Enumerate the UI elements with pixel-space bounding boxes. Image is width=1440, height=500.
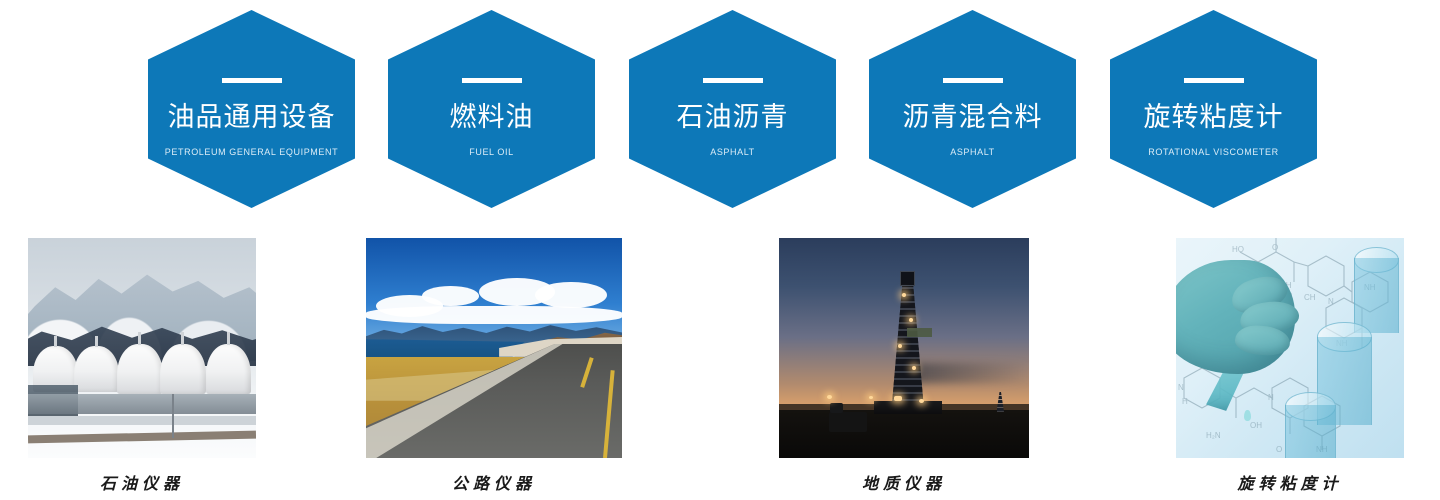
svg-text:CH: CH xyxy=(1304,293,1316,302)
showcase-photo-row: 石油仪器 公路仪器 xyxy=(0,0,1440,500)
showcase-photo-drilling-rig-dusk xyxy=(779,238,1029,458)
showcase-caption: 公路仪器 xyxy=(366,470,622,494)
svg-text:N: N xyxy=(1328,297,1334,306)
svg-text:H₂N: H₂N xyxy=(1206,431,1221,440)
showcase-photo-refinery-mountains xyxy=(28,238,256,458)
showcase-photo-lab-glove-flask: HO O NH HO O NH CH N NH N H H₂N OH O xyxy=(1176,238,1404,458)
svg-text:OH: OH xyxy=(1250,421,1262,430)
showcase-item-rotational-viscometer[interactable]: HO O NH HO O NH CH N NH N H H₂N OH O xyxy=(1176,238,1404,494)
product-category-banner: 油品通用设备 PETROLEUM GENERAL EQUIPMENT 燃料油 F… xyxy=(0,0,1440,500)
showcase-item-geological-instruments[interactable]: 地质仪器 xyxy=(779,238,1029,494)
svg-text:O: O xyxy=(1272,243,1278,252)
svg-text:H: H xyxy=(1182,397,1188,406)
svg-text:N: N xyxy=(1268,393,1274,402)
showcase-caption: 地质仪器 xyxy=(779,470,1029,494)
showcase-caption: 旋转粘度计 xyxy=(1176,470,1404,494)
showcase-item-petroleum-instruments[interactable]: 石油仪器 xyxy=(28,238,256,494)
showcase-photo-highway-lake xyxy=(366,238,622,458)
svg-text:N: N xyxy=(1178,383,1184,392)
svg-text:O: O xyxy=(1276,445,1282,454)
showcase-caption: 石油仪器 xyxy=(28,470,256,494)
svg-text:HO: HO xyxy=(1232,245,1244,254)
showcase-item-highway-instruments[interactable]: 公路仪器 xyxy=(366,238,622,494)
